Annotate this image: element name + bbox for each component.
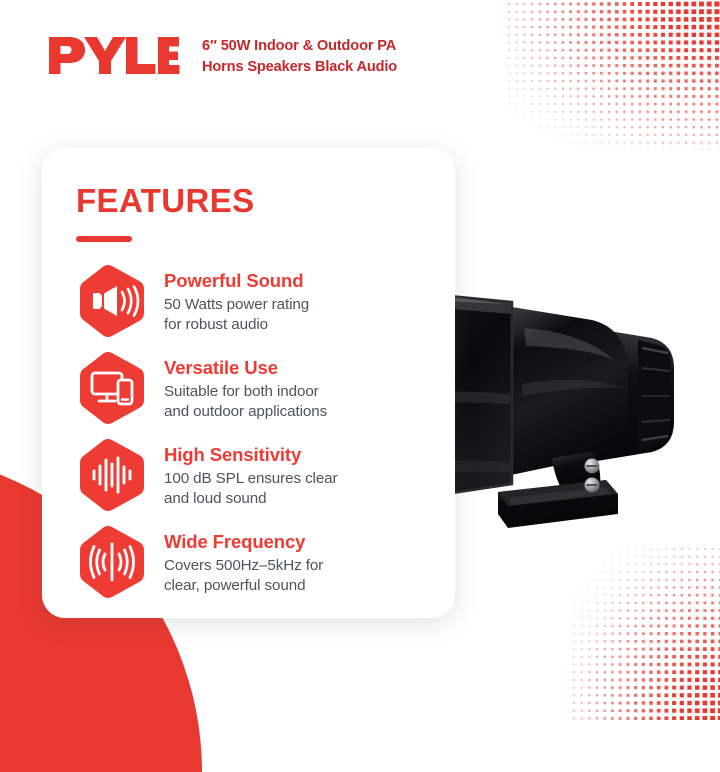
features-heading: FEATURES bbox=[76, 182, 455, 220]
feature-item-wide-frequency: Wide Frequency Covers 500Hz–5kHz for cle… bbox=[76, 525, 455, 599]
feature-desc-line-1: 100 dB SPL ensures clear bbox=[164, 469, 338, 489]
feature-item-versatile-use: Versatile Use Suitable for both indoor a… bbox=[76, 351, 455, 425]
header: 6″ 50W Indoor & Outdoor PA Horns Speaker… bbox=[48, 34, 397, 80]
feature-text-block: Wide Frequency Covers 500Hz–5kHz for cle… bbox=[164, 525, 323, 596]
feature-desc-line-1: Suitable for both indoor bbox=[164, 382, 327, 402]
frequency-waves-icon bbox=[76, 525, 148, 599]
feature-text-block: Versatile Use Suitable for both indoor a… bbox=[164, 351, 327, 422]
pyle-logo bbox=[48, 34, 180, 80]
feature-desc-line-2: for robust audio bbox=[164, 315, 309, 335]
audio-waveform-icon bbox=[76, 438, 148, 512]
feature-text-block: Powerful Sound 50 Watts power rating for… bbox=[164, 264, 309, 335]
feature-description: 50 Watts power rating for robust audio bbox=[164, 295, 309, 335]
feature-list: Powerful Sound 50 Watts power rating for… bbox=[76, 264, 455, 599]
feature-desc-line-2: and loud sound bbox=[164, 489, 338, 509]
speaker-waves-icon bbox=[76, 264, 148, 338]
feature-item-powerful-sound: Powerful Sound 50 Watts power rating for… bbox=[76, 264, 455, 338]
feature-description: Suitable for both indoor and outdoor app… bbox=[164, 382, 327, 422]
heading-underline-rule bbox=[76, 236, 132, 242]
feature-title: Powerful Sound bbox=[164, 270, 309, 292]
feature-desc-line-2: clear, powerful sound bbox=[164, 576, 323, 596]
feature-description: 100 dB SPL ensures clear and loud sound bbox=[164, 469, 338, 509]
feature-desc-line-1: 50 Watts power rating bbox=[164, 295, 309, 315]
product-title-line-1: 6″ 50W Indoor & Outdoor PA bbox=[202, 36, 397, 57]
devices-monitor-phone-icon bbox=[76, 351, 148, 425]
page-title: 6″ 50W Indoor & Outdoor PA Horns Speaker… bbox=[202, 36, 397, 77]
feature-text-block: High Sensitivity 100 dB SPL ensures clea… bbox=[164, 438, 338, 509]
feature-description: Covers 500Hz–5kHz for clear, powerful so… bbox=[164, 556, 323, 596]
features-card: FEATURES bbox=[42, 148, 455, 618]
halftone-dots-bottom-right bbox=[570, 545, 720, 720]
feature-title: Wide Frequency bbox=[164, 531, 323, 553]
product-title-line-2: Horns Speakers Black Audio bbox=[202, 57, 397, 78]
halftone-dots-top-right bbox=[505, 0, 720, 150]
feature-title: Versatile Use bbox=[164, 357, 327, 379]
feature-desc-line-1: Covers 500Hz–5kHz for bbox=[164, 556, 323, 576]
feature-desc-line-2: and outdoor applications bbox=[164, 402, 327, 422]
feature-item-high-sensitivity: High Sensitivity 100 dB SPL ensures clea… bbox=[76, 438, 455, 512]
feature-title: High Sensitivity bbox=[164, 444, 338, 466]
